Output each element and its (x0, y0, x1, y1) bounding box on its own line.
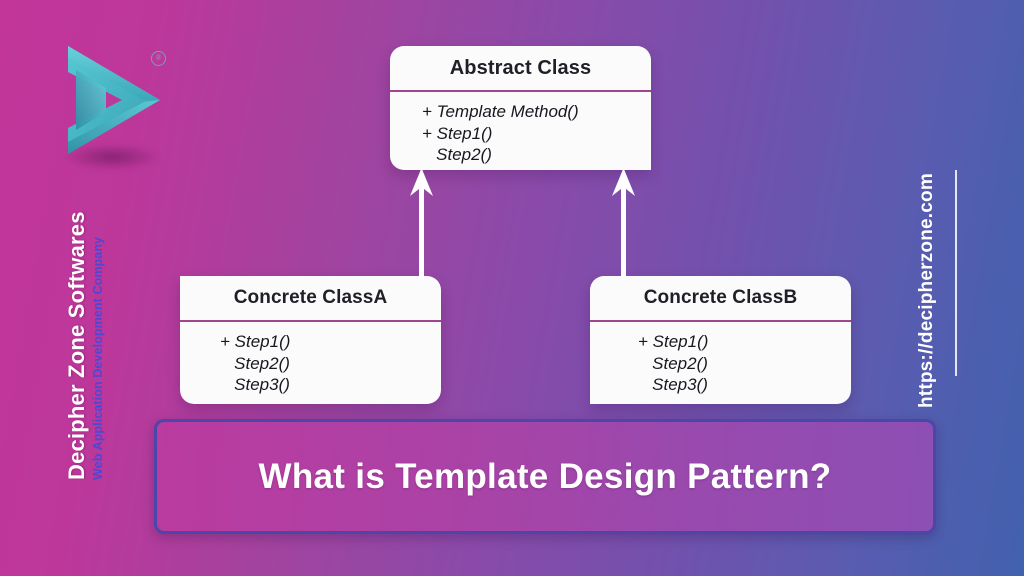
brand-vertical-text: Decipher Zone Softwares Web Application … (64, 0, 116, 180)
class-members: + Template Method() + Step1() Step2() (390, 92, 651, 176)
title-banner: What is Template Design Pattern? (154, 419, 936, 534)
class-member: Step2() (422, 144, 651, 166)
brand-url[interactable]: https://decipherzone.com (916, 118, 938, 408)
class-title: Concrete ClassB (590, 276, 851, 320)
brand-name: Decipher Zone Softwares (64, 211, 90, 480)
class-members: + Step1() Step2() Step3() (180, 322, 441, 406)
generalization-arrow-b-to-abstract (606, 168, 642, 280)
uml-class-abstract-class: Abstract Class + Template Method() + Ste… (390, 46, 651, 170)
url-divider-line (955, 170, 957, 376)
brand-url-vertical[interactable]: https://decipherzone.com (916, 118, 946, 408)
generalization-arrow-a-to-abstract (404, 168, 440, 280)
class-member: Step2() (220, 353, 441, 375)
class-member: Step3() (220, 374, 441, 396)
class-members: + Step1() Step2() Step3() (590, 322, 851, 406)
class-title: Concrete ClassA (180, 276, 441, 320)
class-member: + Template Method() (422, 101, 651, 123)
class-title: Abstract Class (390, 46, 651, 90)
class-member: + Step1() (422, 123, 651, 145)
uml-class-concrete-class-b: Concrete ClassB + Step1() Step2() Step3(… (590, 276, 851, 404)
class-member: + Step1() (638, 331, 851, 353)
class-member: Step2() (638, 353, 851, 375)
registered-trademark-icon: ® (151, 51, 166, 66)
class-member: + Step1() (220, 331, 441, 353)
uml-class-concrete-class-a: Concrete ClassA + Step1() Step2() Step3(… (180, 276, 441, 404)
banner-title: What is Template Design Pattern? (259, 457, 832, 497)
class-member: Step3() (638, 374, 851, 396)
brand-tagline: Web Application Development Company (91, 237, 105, 480)
